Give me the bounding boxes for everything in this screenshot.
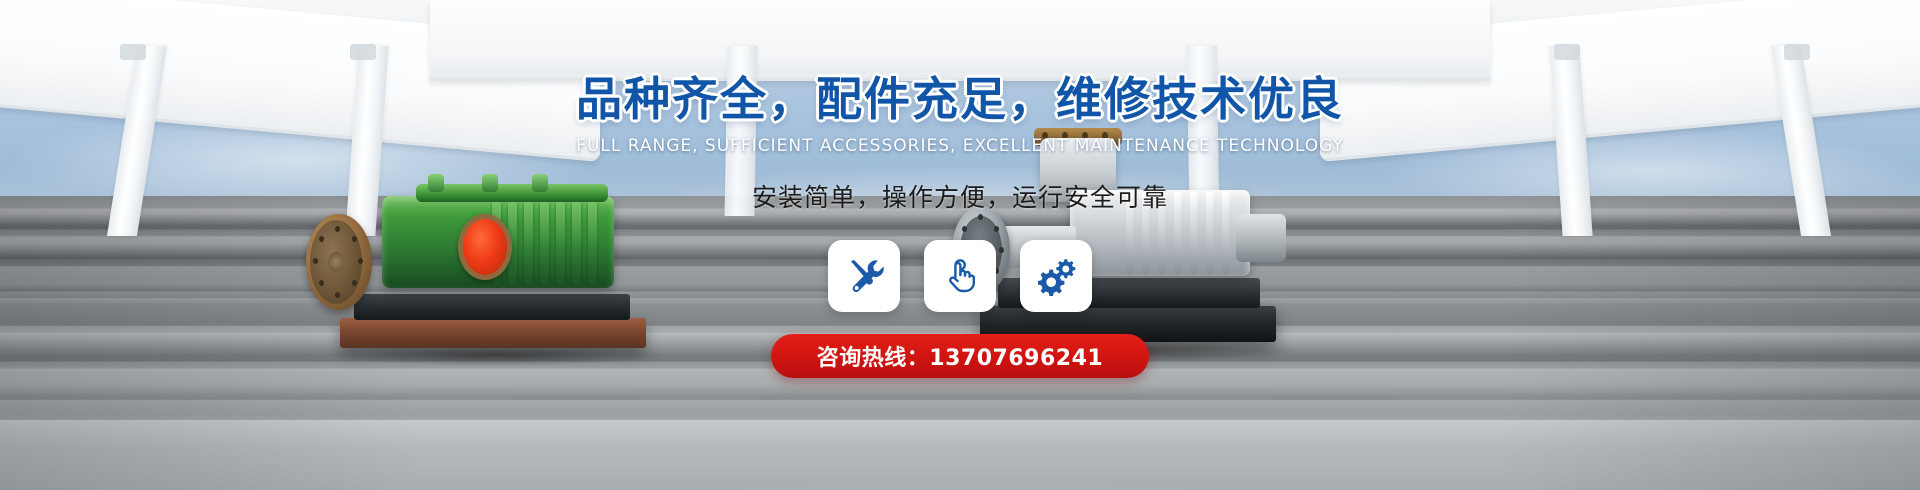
feature-icon-list [828,240,1092,312]
gears-icon [1036,256,1076,296]
hotline-cta-bar[interactable]: 咨询热线：13707696241 [771,334,1149,378]
feature-card-maintenance[interactable] [828,240,900,312]
banner-headline: 品种齐全，配件充足，维修技术优良 [576,76,1344,122]
promo-banner: 品种齐全，配件充足，维修技术优良 FULL RANGE, SUFFICIENT … [0,0,1920,490]
feature-card-technology[interactable] [1020,240,1092,312]
banner-content: 品种齐全，配件充足，维修技术优良 FULL RANGE, SUFFICIENT … [0,0,1920,490]
pointing-hand-icon [940,256,980,296]
banner-subtitle-chinese: 安装简单，操作方便，运行安全可靠 [752,178,1168,214]
feature-card-easy-operation[interactable] [924,240,996,312]
wrench-screwdriver-icon [844,256,884,296]
banner-subtitle-english: FULL RANGE, SUFFICIENT ACCESSORIES, EXCE… [576,136,1344,156]
hotline-label: 咨询热线：13707696241 [817,340,1103,372]
